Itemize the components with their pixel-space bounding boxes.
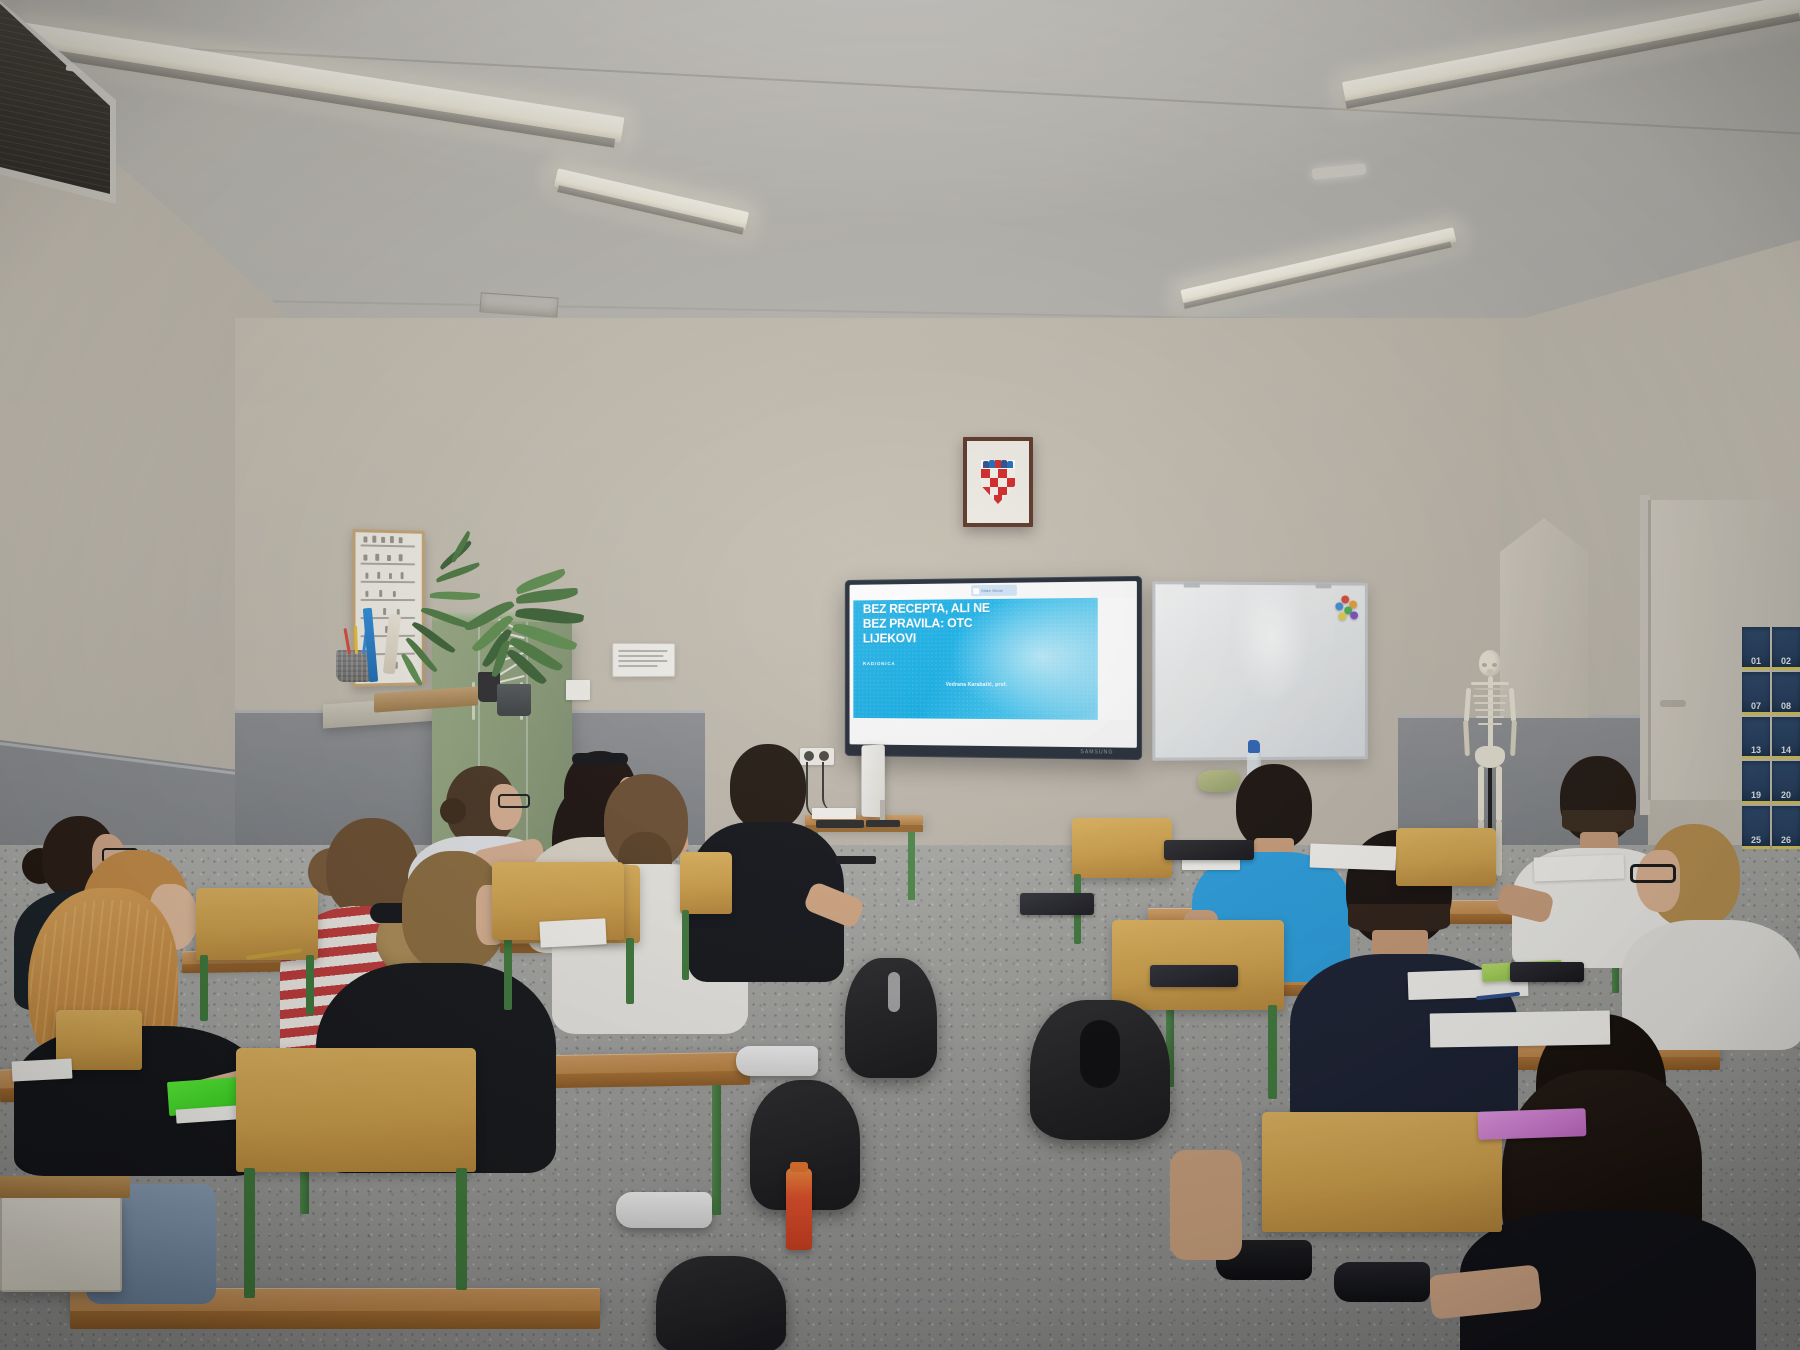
sneaker [1334, 1262, 1430, 1302]
paper-sheet [1534, 854, 1625, 881]
pocket-item[interactable]: 08 [1772, 672, 1800, 715]
skeleton-left-femur [1478, 766, 1484, 822]
pencil-case[interactable] [1478, 1108, 1587, 1140]
monitor-base [866, 820, 900, 827]
magnet-yellow[interactable] [1338, 612, 1346, 620]
bottle-cap [790, 1162, 808, 1172]
wall-pocket-organizer[interactable]: 01 02 07 08 13 14 19 20 25 26 [1742, 627, 1800, 849]
skeleton-left-forearm [1463, 720, 1470, 756]
pocket-item[interactable]: 02 [1772, 627, 1800, 670]
pocket-item[interactable]: 07 [1742, 672, 1770, 715]
slide-title-line-1: BEZ RECEPTA, ALI NE [863, 600, 1080, 617]
chair-frame [456, 1168, 467, 1290]
chair-frame [626, 938, 634, 1004]
student-chair[interactable] [236, 1048, 476, 1172]
chair-frame [682, 910, 689, 980]
whiteboard-clip [1316, 583, 1332, 588]
student-chair[interactable] [680, 852, 732, 914]
slide-author-name: Vedrana Karabatić, prof. [946, 682, 1076, 688]
desk-leg [712, 1085, 721, 1215]
app-chip-label: Slide Show [981, 588, 1003, 593]
paper-sheet [539, 918, 606, 947]
chair-frame [306, 955, 314, 1015]
pencil-case[interactable] [1510, 962, 1584, 982]
coa-crown [983, 460, 1013, 468]
spray-bottle-trigger [1248, 740, 1260, 753]
paper-sheet [1430, 1010, 1611, 1047]
slide-kicker-label: RADIONICA [863, 661, 896, 666]
glasses [1630, 864, 1676, 883]
sneaker [736, 1046, 818, 1076]
student-chair[interactable] [1072, 818, 1172, 878]
slide-bottom-margin [850, 718, 1137, 748]
pocket-item[interactable]: 01 [1742, 627, 1770, 670]
student-chair[interactable] [1262, 1112, 1502, 1232]
magnet-blue[interactable] [1335, 602, 1343, 610]
slide-title-line-3: LIJEKOVI [863, 630, 1080, 646]
chair-frame [244, 1168, 255, 1298]
backpack-strap [1080, 1020, 1120, 1088]
magnet-purple[interactable] [1350, 611, 1358, 619]
slide-title-line-2: BEZ PRAVILA: OTC [863, 615, 1080, 631]
hanging-plant-stems [396, 556, 516, 686]
pocket-item[interactable]: 20 [1772, 761, 1800, 804]
pencil-case[interactable] [1020, 893, 1094, 915]
display-screen[interactable]: Slide Show BEZ RECEPTA, ALI NE BEZ PRAVI… [850, 581, 1137, 748]
wall-mounted-display[interactable]: Slide Show BEZ RECEPTA, ALI NE BEZ PRAVI… [845, 576, 1142, 760]
app-chip-icon [973, 588, 979, 594]
slide-title: BEZ RECEPTA, ALI NE BEZ PRAVILA: OTC LIJ… [863, 600, 1080, 646]
presentation-app-chip[interactable]: Slide Show [971, 585, 1017, 597]
wood-plank [0, 1176, 130, 1198]
hair-fade [1348, 904, 1450, 932]
classroom-scene: Slide Show BEZ RECEPTA, ALI NE BEZ PRAVI… [0, 0, 1800, 1350]
chair-frame [504, 938, 512, 1010]
display-brand-label: SAMSUNG [1080, 749, 1113, 756]
whiteboard[interactable] [1152, 581, 1367, 761]
pocket-item[interactable]: 13 [1742, 717, 1770, 760]
magnet-cluster[interactable] [1333, 595, 1359, 623]
backpack[interactable] [656, 1256, 786, 1350]
teacher-desk-leg [908, 832, 915, 900]
chair-frame [200, 955, 208, 1021]
whiteboard-clip [1184, 582, 1200, 587]
skeleton-pelvis [1475, 746, 1505, 768]
leg [1170, 1150, 1242, 1260]
phone[interactable] [836, 856, 876, 864]
pocket-item[interactable]: 19 [1742, 761, 1770, 804]
paper-sheet [12, 1058, 73, 1081]
pocket-item[interactable]: 14 [1772, 717, 1800, 760]
skeleton-right-forearm [1510, 720, 1517, 756]
chair-frame [1268, 1005, 1277, 1099]
sunglasses-on-head [572, 753, 628, 765]
skeleton-right-humerus [1509, 688, 1516, 722]
skeleton-right-femur [1496, 766, 1502, 822]
water-bottle[interactable] [786, 1168, 812, 1250]
paper-sheet [1310, 844, 1397, 871]
student-chair[interactable] [1396, 828, 1496, 886]
student-desk-edge [70, 1311, 600, 1329]
coa-shield [981, 460, 1015, 504]
head [730, 744, 806, 830]
skeleton-left-humerus [1464, 688, 1471, 722]
coa-mat [967, 441, 1029, 523]
skeleton-ribcage [1473, 684, 1507, 730]
croatian-coat-of-arms-frame [963, 437, 1033, 527]
skeleton-skull [1479, 650, 1501, 676]
sneaker [616, 1192, 712, 1228]
pencil-case[interactable] [1164, 840, 1254, 860]
hair-bun [440, 798, 466, 824]
framed-certificate [612, 643, 675, 677]
door-handle[interactable] [1660, 700, 1686, 707]
student-glasses-right [1618, 820, 1798, 1040]
pencil-case[interactable] [1150, 965, 1238, 987]
storage-box [0, 1196, 122, 1292]
magnet-red[interactable] [1341, 595, 1349, 603]
backpack-strap [888, 972, 900, 1012]
